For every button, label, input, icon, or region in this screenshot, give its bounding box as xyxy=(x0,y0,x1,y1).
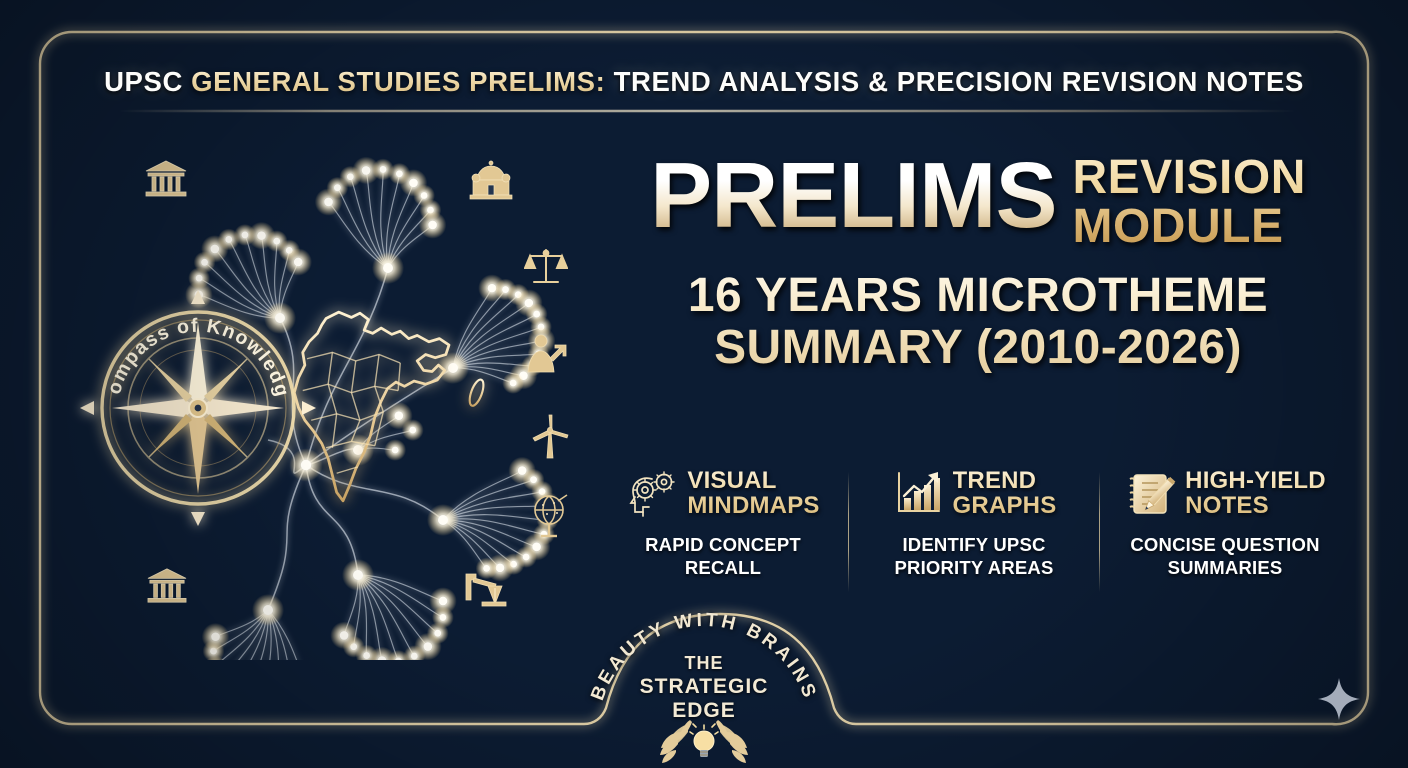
feature-title: TREND GRAPHS xyxy=(953,469,1057,519)
feature-trend-graphs[interactable]: TREND GRAPHS IDENTIFY UPSC PRIORITY AREA… xyxy=(849,468,1099,579)
feature-row: VISUAL MINDMAPS RAPID CONCEPT RECALL xyxy=(598,468,1350,600)
header-divider xyxy=(118,110,1298,112)
title-revision: REVISION xyxy=(1072,154,1305,203)
badge-line-1: THE xyxy=(572,653,836,674)
brain-gears-icon xyxy=(626,468,678,520)
feature-high-yield-notes[interactable]: HIGH-YIELD NOTES CONCISE QUESTION SUMMAR… xyxy=(1100,468,1350,579)
subtitle-block: 16 YEARS MICROTHEME SUMMARY (2010-2026) xyxy=(598,270,1358,374)
four-point-star-icon xyxy=(1316,676,1362,722)
page-title: UPSC GENERAL STUDIES PRELIMS: TREND ANAL… xyxy=(0,66,1408,98)
mindmap-artwork: Compass of Knowledge xyxy=(58,120,598,660)
feature-subtitle: RAPID CONCEPT RECALL xyxy=(645,534,801,579)
lightbulb-icon xyxy=(690,724,718,757)
economy-growth-icon xyxy=(524,332,570,381)
subtitle-line-2: SUMMARY (2010-2026) xyxy=(598,322,1358,374)
notebook-pencil-icon xyxy=(1124,468,1176,520)
title-module: MODULE xyxy=(1072,203,1283,252)
title-row: PRELIMS REVISION MODULE xyxy=(598,150,1358,252)
feature-subtitle: CONCISE QUESTION SUMMARIES xyxy=(1130,534,1319,579)
main-title-block: PRELIMS REVISION MODULE 16 YEARS MICROTH… xyxy=(598,150,1358,374)
brand-badge: BEAUTY WITH BRAINS xyxy=(572,628,836,768)
header-part-gold: GENERAL STUDIES PRELIMS: xyxy=(191,66,605,97)
parliament-dome-icon xyxy=(468,158,514,207)
title-revision-module: REVISION MODULE xyxy=(1072,150,1305,252)
classical-building-icon xyxy=(144,158,188,205)
title-prelims: PRELIMS xyxy=(650,150,1056,241)
badge-line-3: EDGE xyxy=(572,699,836,723)
badge-line-2: STRATEGIC xyxy=(572,675,836,699)
header-part-1: UPSC xyxy=(104,66,191,97)
feature-title: HIGH-YIELD NOTES xyxy=(1185,469,1326,519)
bar-chart-trend-icon xyxy=(892,468,944,520)
feature-subtitle: IDENTIFY UPSC PRIORITY AREAS xyxy=(894,534,1053,579)
wind-turbine-icon xyxy=(530,414,570,465)
feature-visual-mindmaps[interactable]: VISUAL MINDMAPS RAPID CONCEPT RECALL xyxy=(598,468,848,579)
bank-building-icon xyxy=(146,566,188,611)
feature-title: VISUAL MINDMAPS xyxy=(687,469,819,519)
header-part-2: TREND ANALYSIS & PRECISION REVISION NOTE… xyxy=(605,66,1304,97)
subtitle-line-1: 16 YEARS MICROTHEME xyxy=(598,270,1358,322)
scales-of-justice-icon xyxy=(524,246,568,295)
science-globe-icon xyxy=(530,494,572,543)
oil-pump-icon xyxy=(462,566,508,613)
